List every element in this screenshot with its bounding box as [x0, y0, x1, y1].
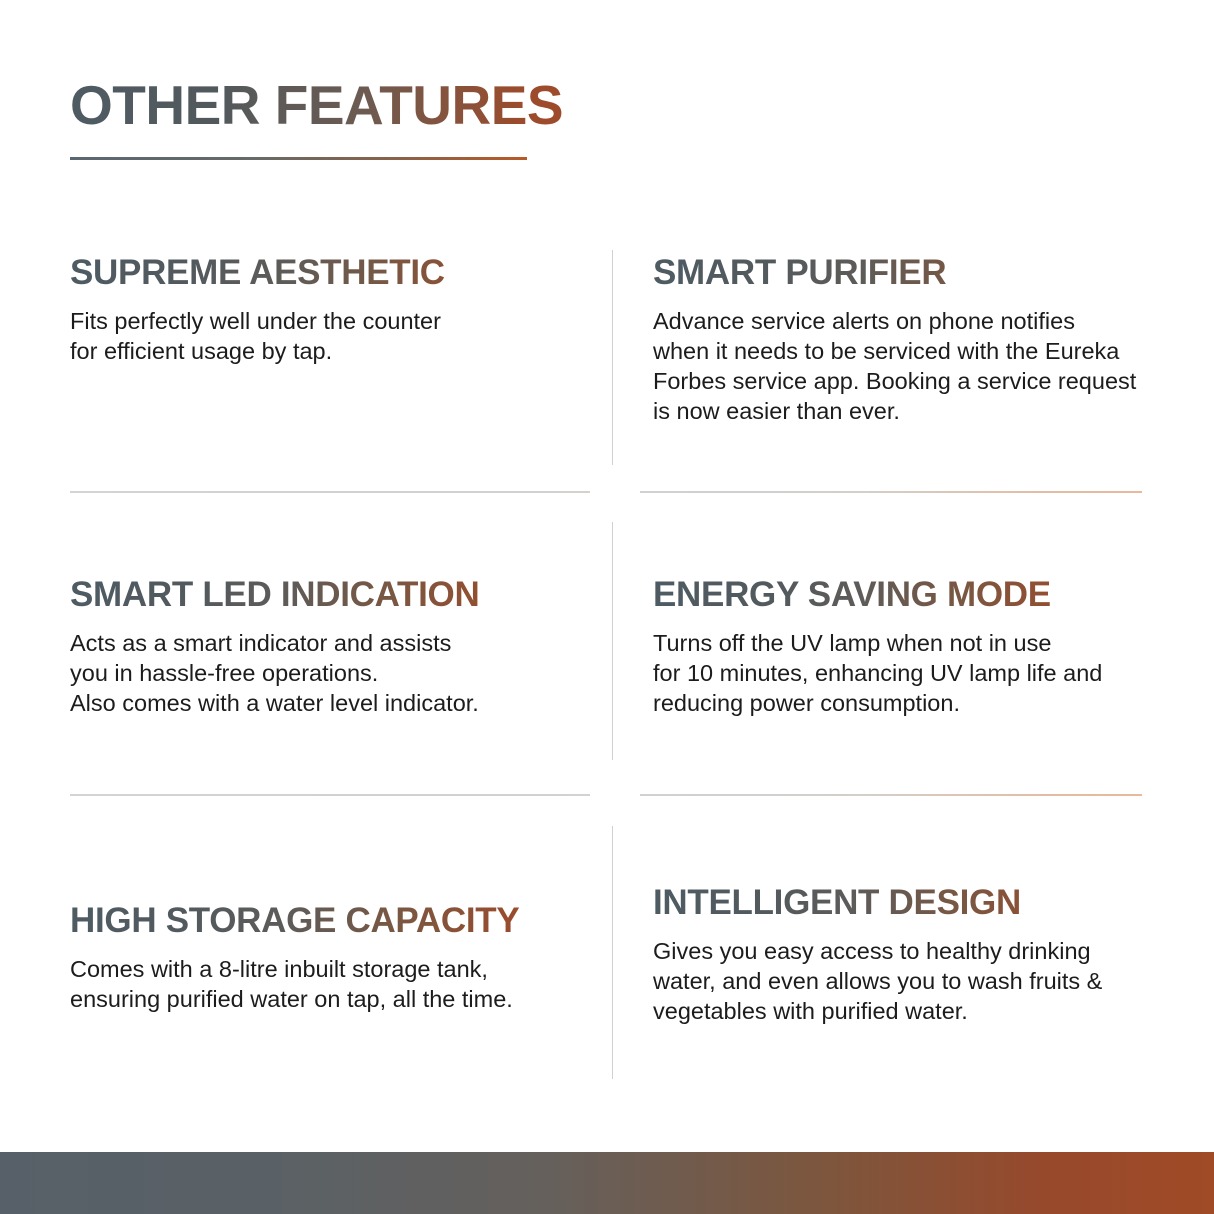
feature-card-intelligent-design: INTELLIGENT DESIGN Gives you easy access… — [653, 885, 1153, 1026]
feature-title: SMART PURIFIER — [653, 255, 1153, 292]
feature-description: Advance service alerts on phone notifies… — [653, 306, 1153, 426]
feature-card-smart-purifier: SMART PURIFIER Advance service alerts on… — [653, 255, 1153, 426]
feature-card-high-storage-capacity: HIGH STORAGE CAPACITY Comes with a 8-lit… — [70, 903, 600, 1014]
vertical-divider-row-2 — [612, 522, 613, 760]
feature-description: Acts as a smart indicator and assists yo… — [70, 628, 590, 718]
vertical-divider-row-1 — [612, 250, 613, 465]
horizontal-divider-left-1 — [70, 491, 590, 493]
feature-page: OTHER FEATURES SUPREME AESTHETIC Fits pe… — [0, 0, 1214, 1214]
feature-card-supreme-aesthetic: SUPREME AESTHETIC Fits perfectly well un… — [70, 255, 590, 366]
feature-description: Fits perfectly well under the counter fo… — [70, 306, 590, 366]
bottom-accent-bar — [0, 1152, 1214, 1214]
features-grid: SUPREME AESTHETIC Fits perfectly well un… — [0, 0, 1214, 1150]
horizontal-divider-right-1 — [640, 491, 1142, 493]
feature-title: SUPREME AESTHETIC — [70, 255, 590, 292]
horizontal-divider-right-2 — [640, 794, 1142, 796]
feature-description: Turns off the UV lamp when not in use fo… — [653, 628, 1153, 718]
vertical-divider-row-3 — [612, 826, 613, 1079]
horizontal-divider-left-2 — [70, 794, 590, 796]
feature-description: Comes with a 8-litre inbuilt storage tan… — [70, 954, 600, 1014]
feature-title: INTELLIGENT DESIGN — [653, 885, 1153, 922]
feature-title: SMART LED INDICATION — [70, 577, 590, 614]
feature-card-energy-saving-mode: ENERGY SAVING MODE Turns off the UV lamp… — [653, 577, 1153, 718]
feature-card-smart-led-indication: SMART LED INDICATION Acts as a smart ind… — [70, 577, 590, 718]
feature-title: HIGH STORAGE CAPACITY — [70, 903, 600, 940]
feature-description: Gives you easy access to healthy drinkin… — [653, 936, 1153, 1026]
feature-title: ENERGY SAVING MODE — [653, 577, 1153, 614]
